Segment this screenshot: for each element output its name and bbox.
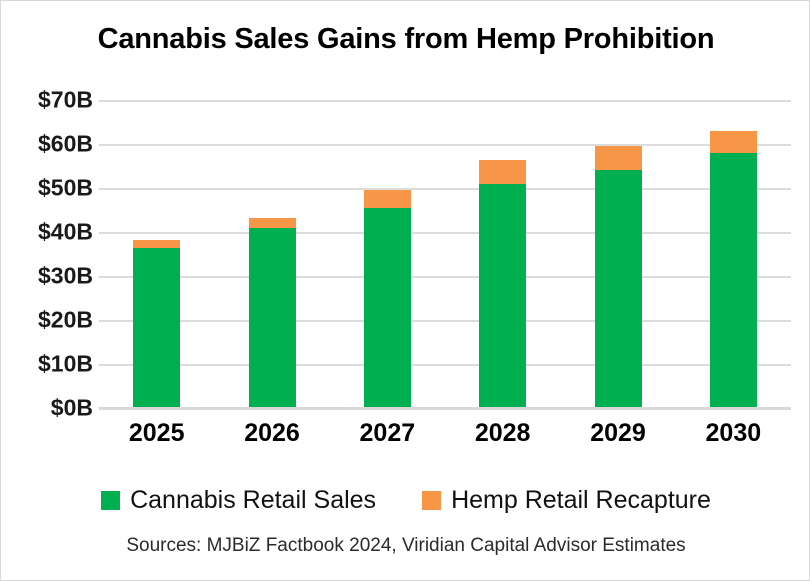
x-tick-label: 2028	[443, 419, 563, 448]
bar-segment-cannabis[interactable]	[595, 170, 642, 408]
legend-swatch-icon	[101, 491, 120, 510]
bar-segment-hemp[interactable]	[479, 160, 526, 183]
x-axis: 202520262027202820292030	[99, 419, 791, 459]
y-tick-label: $40B	[5, 219, 93, 246]
bar-segment-hemp[interactable]	[710, 131, 757, 153]
y-tick-label: $10B	[5, 351, 93, 378]
x-tick-label: 2029	[558, 419, 678, 448]
axis-baseline	[99, 407, 791, 410]
bar-segment-cannabis[interactable]	[249, 228, 296, 408]
bar-segment-cannabis[interactable]	[710, 153, 757, 408]
x-tick-label: 2027	[327, 419, 447, 448]
bar-segment-cannabis[interactable]	[364, 208, 411, 408]
bar-group[interactable]	[595, 146, 642, 408]
chart-title: Cannabis Sales Gains from Hemp Prohibiti…	[1, 23, 810, 56]
x-tick-label: 2025	[97, 419, 217, 448]
y-tick-label: $70B	[5, 87, 93, 114]
gridline	[99, 232, 791, 234]
x-tick-label: 2030	[673, 419, 793, 448]
y-tick-label: $60B	[5, 131, 93, 158]
y-tick-label: $0B	[5, 395, 93, 422]
bar-segment-cannabis[interactable]	[133, 248, 180, 408]
gridline	[99, 320, 791, 322]
y-tick-label: $30B	[5, 263, 93, 290]
legend-label: Cannabis Retail Sales	[130, 486, 376, 515]
bar-group[interactable]	[710, 131, 757, 408]
bar-segment-hemp[interactable]	[133, 240, 180, 248]
bar-group[interactable]	[364, 190, 411, 408]
gridline	[99, 144, 791, 146]
legend-entry[interactable]: Hemp Retail Recapture	[422, 486, 711, 515]
x-tick-label: 2026	[212, 419, 332, 448]
gridline	[99, 100, 791, 102]
bar-segment-hemp[interactable]	[595, 146, 642, 169]
gridline	[99, 276, 791, 278]
bar-segment-hemp[interactable]	[249, 218, 296, 228]
legend-label: Hemp Retail Recapture	[451, 486, 711, 515]
gridline	[99, 364, 791, 366]
source-note: Sources: MJBiZ Factbook 2024, Viridian C…	[1, 535, 810, 557]
bar-segment-cannabis[interactable]	[479, 184, 526, 408]
bar-group[interactable]	[479, 160, 526, 408]
gridline	[99, 188, 791, 190]
y-tick-label: $50B	[5, 175, 93, 202]
plot-area	[99, 100, 791, 408]
bar-group[interactable]	[249, 218, 296, 408]
y-tick-label: $20B	[5, 307, 93, 334]
chart-legend: Cannabis Retail SalesHemp Retail Recaptu…	[1, 486, 810, 515]
legend-swatch-icon	[422, 491, 441, 510]
bar-group[interactable]	[133, 240, 180, 408]
bar-segment-hemp[interactable]	[364, 190, 411, 208]
chart-container: Cannabis Sales Gains from Hemp Prohibiti…	[0, 0, 810, 581]
legend-entry[interactable]: Cannabis Retail Sales	[101, 486, 376, 515]
